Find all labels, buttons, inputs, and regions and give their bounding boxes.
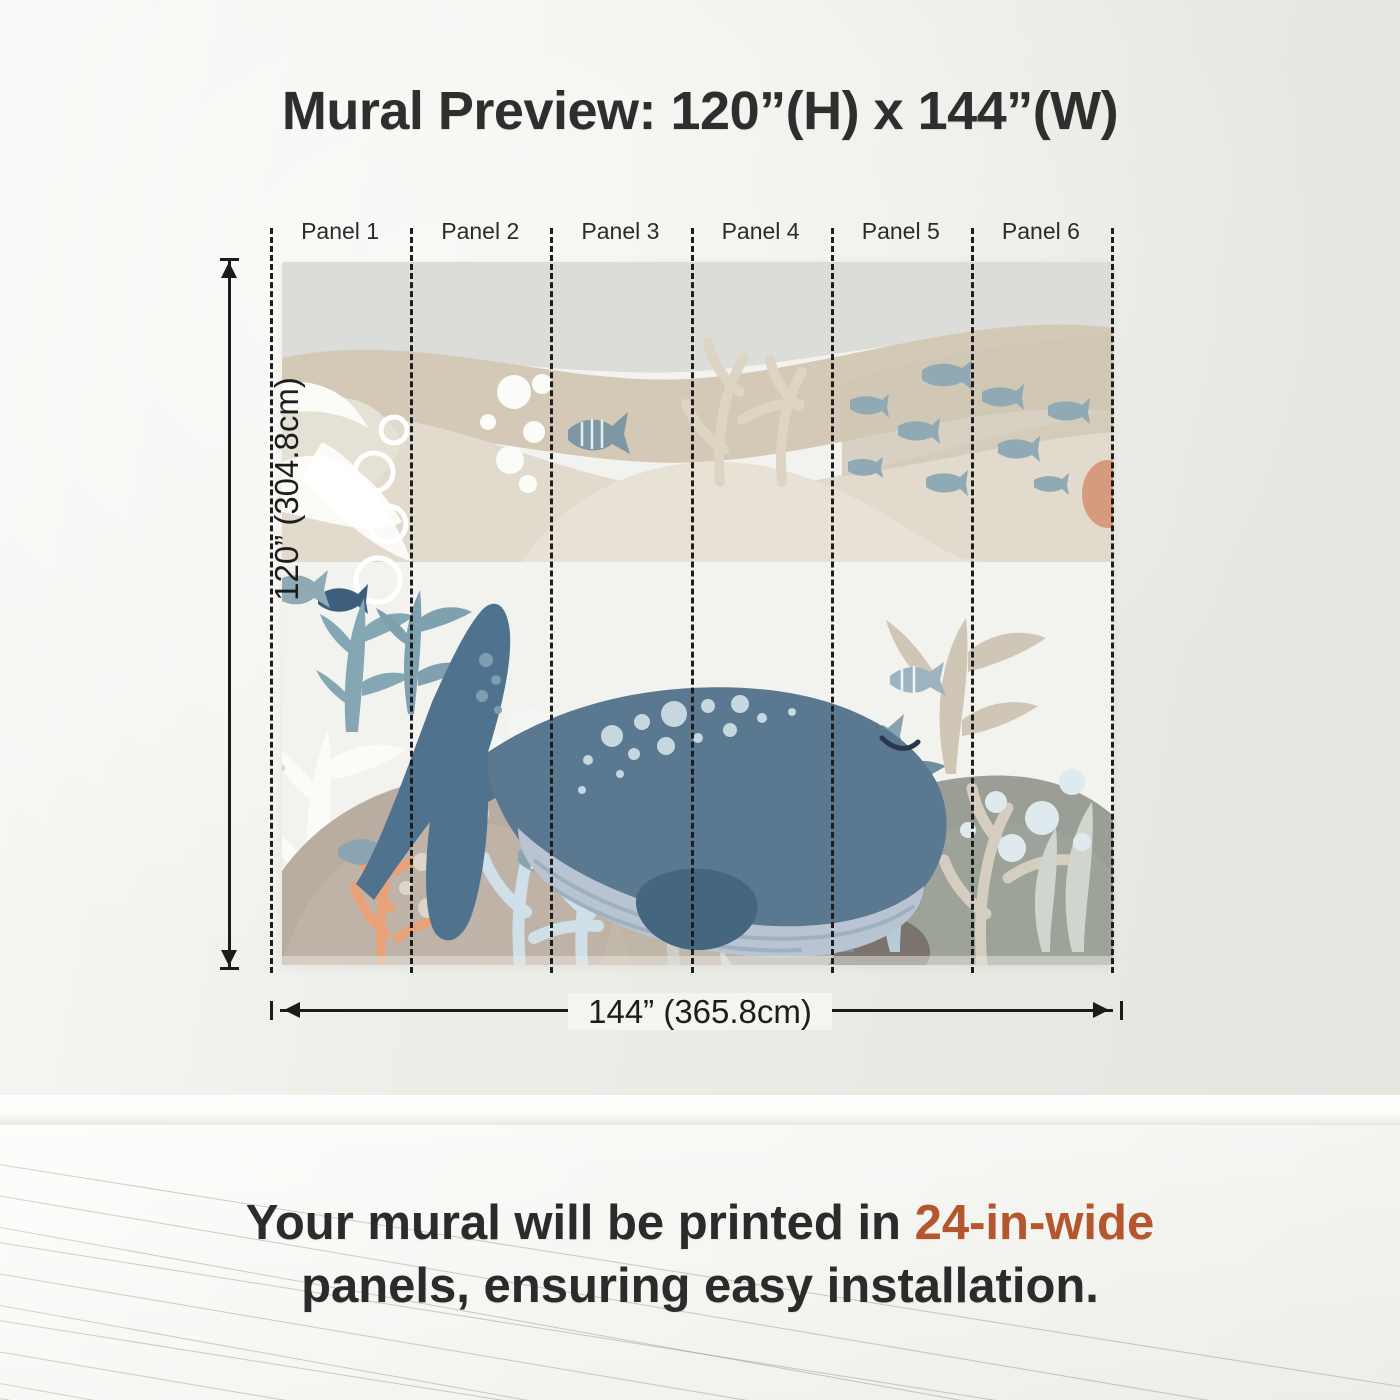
- panel-divider-2: [550, 228, 553, 973]
- panel-divider-6: [1111, 228, 1114, 973]
- width-dimension-text: 144” (365.8cm): [568, 993, 832, 1030]
- panel-label-5: Panel 5: [832, 218, 970, 245]
- panel-label-2: Panel 2: [411, 218, 549, 245]
- height-tick-bottom: [220, 967, 239, 970]
- caption-line2: panels, ensuring easy installation.: [301, 1259, 1099, 1313]
- panel-label-6: Panel 6: [972, 218, 1110, 245]
- panel-divider-4: [831, 228, 834, 973]
- height-tick-top: [220, 258, 239, 261]
- panel-label-3: Panel 3: [551, 218, 689, 245]
- panel-label-4: Panel 4: [692, 218, 830, 245]
- panel-label-1: Panel 1: [271, 218, 409, 245]
- panel-divider-5: [971, 228, 974, 973]
- underwater-scene-svg: [282, 262, 1113, 965]
- mural-preview[interactable]: [282, 262, 1113, 965]
- baseboard: [0, 1095, 1400, 1126]
- width-dimension-label: 144” (365.8cm): [0, 993, 1400, 1031]
- caption: Your mural will be printed in 24-in-wide…: [70, 1192, 1330, 1317]
- height-arrow-bottom: [221, 950, 237, 966]
- page-title: Mural Preview: 120”(H) x 144”(W): [0, 80, 1400, 142]
- height-dimension-line: [228, 258, 231, 970]
- panel-divider-1: [410, 228, 413, 973]
- caption-line1-before: Your mural will be printed in: [246, 1196, 915, 1250]
- height-arrow-top: [221, 262, 237, 278]
- mural-artwork: [282, 262, 1113, 965]
- height-dimension-label: 120” (304.8cm): [268, 377, 306, 601]
- caption-accent: 24-in-wide: [915, 1196, 1155, 1250]
- panel-divider-3: [691, 228, 694, 973]
